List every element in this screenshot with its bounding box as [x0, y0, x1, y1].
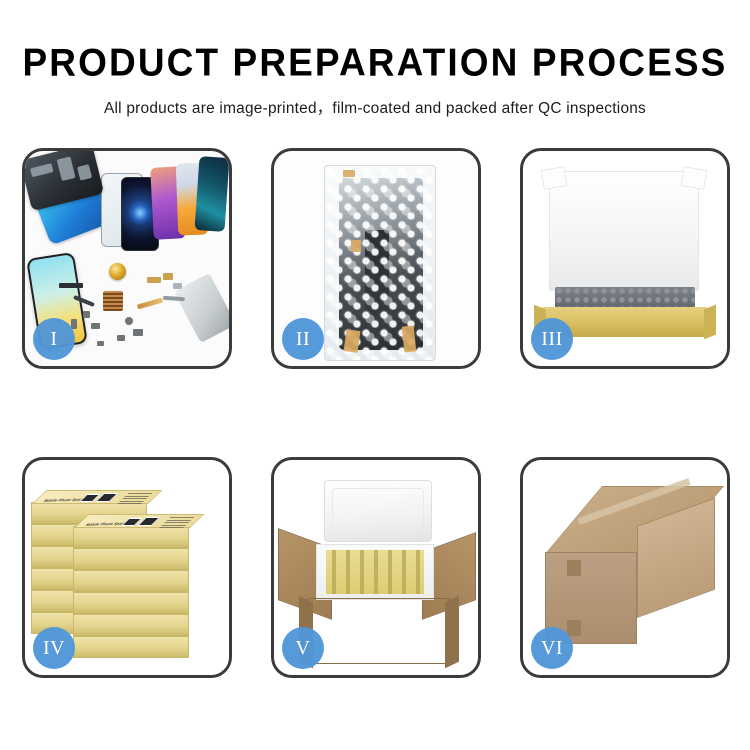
stacked-box	[73, 592, 189, 614]
process-step-grid: I II I	[22, 148, 729, 678]
step-badge-2: II	[282, 318, 324, 360]
page-title: PRODUCT PREPARATION PROCESS	[0, 41, 750, 85]
tape-strip	[343, 170, 355, 177]
box-spec-lines	[157, 517, 194, 530]
phone-screen-teal	[194, 156, 229, 232]
screwdriver-tool	[174, 273, 229, 343]
step-badge-6: VI	[531, 627, 573, 669]
infographic-page: PRODUCT PREPARATION PROCESS All products…	[0, 0, 750, 750]
small-part	[163, 273, 173, 280]
small-part	[91, 323, 100, 329]
flex-cable-part	[137, 298, 163, 310]
step-badge-4: IV	[33, 627, 75, 669]
stacked-box	[73, 548, 189, 570]
carton-edge-tab	[567, 560, 581, 576]
page-subtitle: All products are image-printed，film-coat…	[0, 96, 750, 118]
stacked-box	[73, 636, 189, 658]
battery-connector-part	[59, 283, 83, 288]
small-part	[117, 335, 125, 341]
step-badge-1: I	[33, 318, 75, 360]
small-part	[83, 311, 90, 318]
stacked-box	[73, 614, 189, 636]
process-step-card-4[interactable]: Mobile Phone Spare Parts	[22, 457, 232, 678]
box-printed-face: Mobile Phone Spare Parts	[32, 490, 162, 504]
small-part	[125, 317, 133, 325]
small-part	[173, 283, 182, 289]
process-step-card-1[interactable]: I	[22, 148, 232, 369]
stacked-box-top-front: Mobile Phone Spare Parts	[73, 526, 189, 548]
process-step-card-3[interactable]: III	[520, 148, 730, 369]
small-part	[97, 341, 104, 346]
process-step-card-5[interactable]: V	[271, 457, 481, 678]
tape-strip	[402, 325, 417, 352]
process-step-card-2[interactable]: II	[271, 148, 481, 369]
small-part	[147, 277, 161, 283]
white-foam-pad	[549, 171, 699, 291]
speaker-coil-part	[109, 263, 126, 280]
tape-strip	[351, 240, 361, 252]
stacked-box	[73, 570, 189, 592]
foam-cooler-lid	[324, 480, 432, 542]
step-badge-5: V	[282, 627, 324, 669]
step-badge-3: III	[531, 318, 573, 360]
box-spec-lines	[115, 493, 152, 506]
chip-part	[103, 291, 123, 311]
small-part	[133, 329, 143, 336]
carton-body	[308, 598, 450, 664]
bubble-wrap-pouch	[324, 165, 436, 361]
carton-edge-tab	[567, 620, 581, 636]
packed-boxes-row	[326, 550, 424, 594]
box-printed-face: Mobile Phone Spare Parts	[74, 514, 204, 528]
process-step-card-6[interactable]: VI	[520, 457, 730, 678]
header: PRODUCT PREPARATION PROCESS All products…	[0, 0, 750, 118]
bubble-texture-highlight	[325, 166, 435, 360]
